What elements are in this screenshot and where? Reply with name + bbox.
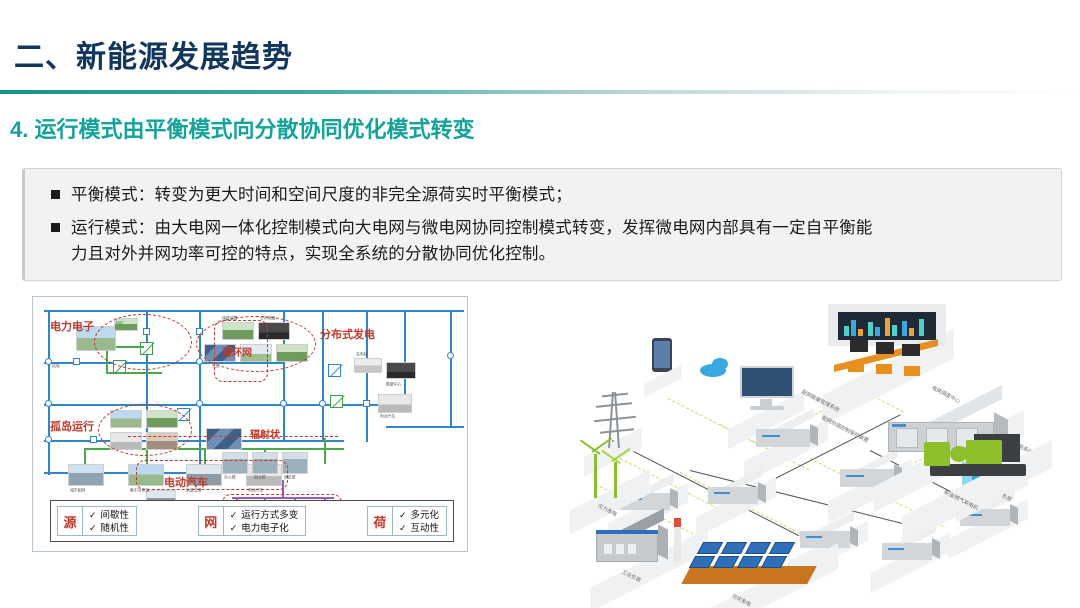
monitor-screen xyxy=(740,366,794,398)
right-diagram-image: 电网调度中心 配网能量管理系统 xyxy=(560,290,1072,590)
bus-node xyxy=(280,400,287,407)
control-center: 电网调度中心 xyxy=(828,304,958,384)
legend-item: ✓随机性 xyxy=(89,522,129,536)
diesel-gas-generator: 柴油/燃气发电机 xyxy=(920,430,1050,506)
bus-node xyxy=(319,400,326,407)
label-weak-loop-network: 弱环网 xyxy=(222,344,252,359)
legend-item: ✓间歇性 xyxy=(89,509,129,523)
bus-node xyxy=(45,436,52,443)
bus-line xyxy=(44,440,344,442)
bullet-text-continued: 力且对外并网功率可控的特点，实现全系统的分散协同优化控制。 xyxy=(71,241,873,267)
label-radial: 辐射状 xyxy=(250,426,280,441)
video-wall xyxy=(838,312,936,340)
chair xyxy=(904,366,920,376)
bus-node xyxy=(73,358,80,365)
legend-key: 网 xyxy=(198,506,224,536)
legend-key: 荷 xyxy=(367,506,393,536)
legend-values: ✓运行方式多变 ✓电力电子化 xyxy=(224,506,307,536)
label-charging-station: 集中充电站 xyxy=(130,488,149,494)
region-power-electronics xyxy=(94,314,192,370)
bus-node xyxy=(90,436,97,443)
label-residential: 居民楼 xyxy=(284,475,296,481)
chair xyxy=(876,364,892,374)
photo-thumb xyxy=(386,362,416,379)
feeder-line xyxy=(84,448,86,464)
slide-root: 二、新能源发展趋势 4. 运行模式由平衡模式向分散协同优化模式转变 平衡模式：转… xyxy=(0,0,1080,608)
phone-screen xyxy=(654,341,670,368)
feeder-line xyxy=(106,372,162,374)
bullet-square-icon xyxy=(51,190,60,199)
bullet-item: 平衡模式：转变为更大时间和空间尺度的非完全源荷实时平衡模式； xyxy=(47,182,1043,208)
cloud-icon xyxy=(712,358,728,370)
callout-box: 平衡模式：转变为更大时间和空间尺度的非完全源荷实时平衡模式； 运行模式：由大电网… xyxy=(22,168,1062,281)
rtu-device xyxy=(882,536,940,562)
feeder-line xyxy=(324,438,326,464)
label-office: 办公楼 xyxy=(224,475,236,481)
region-island-operation xyxy=(98,404,192,456)
bus-node xyxy=(196,400,203,407)
operator-monitor xyxy=(902,344,920,356)
legend-values: ✓多元化 ✓互动性 xyxy=(393,506,447,536)
legend-strip: 源 ✓间歇性 ✓随机性 网 ✓运行方式多变 ✓电力电子化 荷 xyxy=(50,500,454,542)
left-diagram-image: 电力电子 孤岛运行 弱环网 分布式发电 辐射状 电动汽车 多元互动负荷 MG 储… xyxy=(32,296,468,552)
monitor-base xyxy=(750,406,784,410)
left-diagram-canvas: 电力电子 孤岛运行 弱环网 分布式发电 辐射状 电动汽车 多元互动负荷 MG 储… xyxy=(36,300,464,548)
bullet-item: 运行模式：由大电网一体化控制模式向大电网与微电网协同控制模式转变，发挥微电网内部… xyxy=(47,215,1043,267)
label-ev-2: 电动汽车 xyxy=(248,488,263,494)
label-data-center: 数据中心 xyxy=(386,382,401,388)
bus-node xyxy=(45,358,52,365)
bus-node xyxy=(363,400,370,407)
label-commercial: 商业楼 xyxy=(254,475,266,481)
bus-node xyxy=(447,352,454,359)
label-island-operation: 孤岛运行 xyxy=(50,418,94,434)
title-divider xyxy=(0,90,1080,94)
label-charging-pile: 充电桩 xyxy=(356,352,368,358)
label-urban-grid: 城市配网 xyxy=(70,488,85,494)
legend-item: ✓多元化 xyxy=(399,509,439,523)
pv-frame xyxy=(681,566,817,584)
label-power-electronics: 电力电子 xyxy=(50,318,94,334)
operator-monitor xyxy=(850,340,868,352)
legend-key: 源 xyxy=(57,506,83,536)
bullet-text: 平衡模式：转变为更大时间和空间尺度的非完全源荷实时平衡模式； xyxy=(71,182,572,208)
bus-line xyxy=(450,310,452,426)
rtu-device xyxy=(708,480,766,506)
label-dispatch-center: 电网调度中心 xyxy=(930,384,961,404)
chair xyxy=(848,362,864,372)
legend-item: ✓电力电子化 xyxy=(230,522,299,536)
bullet-text: 运行模式：由大电网一体化控制模式向大电网与微电网协同控制模式转变，发挥微电网内部… xyxy=(71,215,873,241)
pv-plant: 光伏发电 xyxy=(686,540,826,608)
bus-line xyxy=(48,310,50,475)
photo-thumb xyxy=(68,464,104,486)
legend-cell-load: 荷 ✓多元化 ✓互动性 xyxy=(367,506,447,536)
converter-icon xyxy=(328,364,341,377)
label-ev: 电动汽车 xyxy=(380,414,395,420)
label-distributed-generation: 分布式发电 xyxy=(320,326,375,342)
operator-monitor xyxy=(876,342,894,354)
legend-item: ✓互动性 xyxy=(399,522,439,536)
legend-cell-source: 源 ✓间歇性 ✓随机性 xyxy=(57,506,137,536)
bus-line xyxy=(44,404,404,406)
industrial-load: 工业负荷 xyxy=(596,518,700,576)
photo-thumb xyxy=(206,428,242,450)
label-distributed-source: 分布电源 xyxy=(260,316,275,322)
converter-icon xyxy=(330,395,343,408)
rtu-device: 配网协调控制保护装置 xyxy=(756,422,818,450)
legend-values: ✓间歇性 ✓随机性 xyxy=(83,506,137,536)
legend-cell-network: 网 ✓运行方式多变 ✓电力电子化 xyxy=(198,506,307,536)
label-pv: 光伏 xyxy=(212,364,220,370)
smoke-stack xyxy=(674,518,681,562)
bus-line xyxy=(386,426,464,428)
photo-thumb xyxy=(354,358,382,373)
wind-farm: 风力发电 xyxy=(570,440,650,512)
label-rail-transit: 轨道交通 xyxy=(186,488,201,494)
bus-node xyxy=(196,358,203,365)
radial-divider xyxy=(128,436,338,437)
label-wind: 风电 xyxy=(52,364,60,370)
photo-thumb xyxy=(378,394,412,413)
bus-line xyxy=(44,310,464,312)
legend-item: ✓运行方式多变 xyxy=(230,509,299,523)
label-mg: MG xyxy=(116,320,123,325)
bus-node xyxy=(45,400,52,407)
bullet-square-icon xyxy=(51,223,60,232)
sub-heading: 4. 运行模式由平衡模式向分散协同优化模式转变 xyxy=(10,112,474,144)
mobile-phone xyxy=(652,338,672,372)
page-title: 二、新能源发展趋势 xyxy=(14,32,293,76)
label-storage: 储能装置 xyxy=(222,316,237,322)
